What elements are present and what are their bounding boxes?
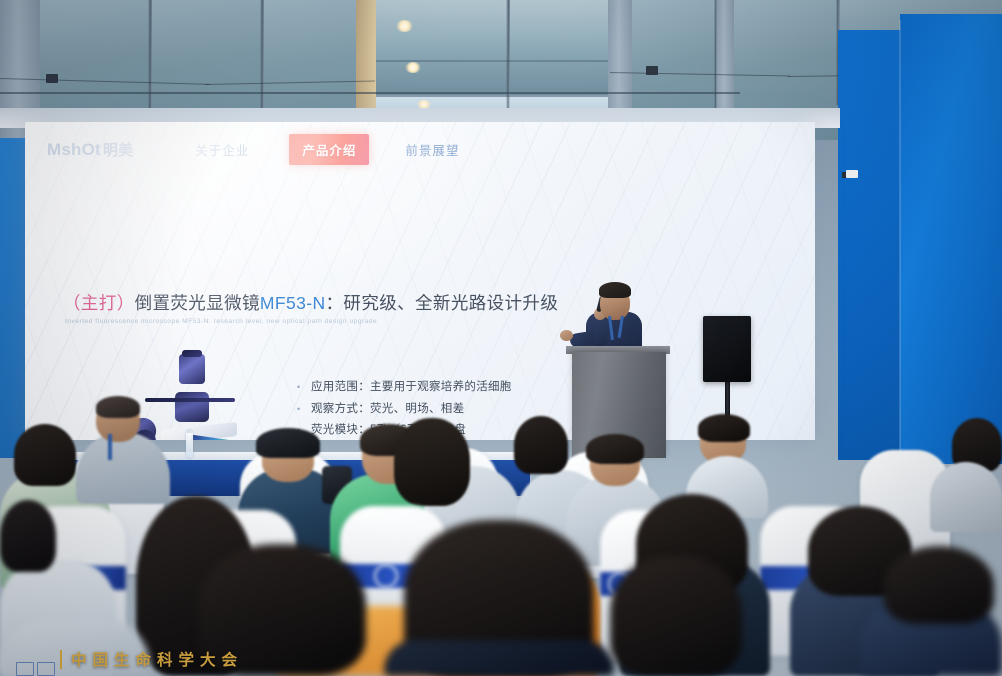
screenshot-root: MshOt明美 关于企业 产品介绍 前景展望 （主打）倒置荧光显微镜MF53-N… — [0, 0, 1002, 676]
bullet-text: 观察方式：荧光、明场、相差 — [311, 402, 464, 416]
slide-subtitle-english: Inverted fluorescence microscope MF53-N:… — [65, 318, 377, 325]
scope-stage-arm — [145, 398, 235, 402]
scope-upper-body — [175, 392, 209, 422]
audience-person-hair — [96, 396, 140, 418]
mshot-logo: MshOt明美 — [47, 139, 133, 160]
wire-anchor — [646, 66, 658, 75]
wire-anchor — [46, 74, 58, 83]
logo-block — [37, 662, 55, 676]
pa-speaker — [703, 316, 751, 382]
bullet-marker: • — [297, 380, 311, 394]
security-camera-icon — [846, 170, 858, 178]
watermark-divider — [60, 650, 62, 669]
bullet-marker: • — [297, 402, 311, 416]
slide-nav-bar: MshOt明美 关于企业 产品介绍 前景展望 — [47, 134, 797, 164]
brand-cn: 明美 — [103, 142, 133, 159]
water-bottle-cap — [186, 429, 193, 433]
title-rest: ：研究级、全新光路设计升级 — [326, 293, 559, 313]
audience-person-hair — [14, 424, 76, 486]
audience-person-hair — [514, 416, 568, 474]
ceiling-light — [405, 62, 421, 73]
audience-person-hair — [610, 556, 742, 676]
slide-tab-outlook[interactable]: 前景展望 — [395, 136, 469, 163]
glass-panel-bay — [510, 0, 608, 95]
presenter-hand-right — [560, 330, 573, 341]
audience-person-hair — [698, 414, 750, 442]
audience-cap — [256, 428, 320, 458]
audience-person-hair — [0, 500, 56, 572]
audience-lanyard — [108, 434, 112, 460]
water-bottle — [186, 432, 193, 458]
presenter-hair — [599, 282, 631, 298]
audience-person-body — [930, 462, 1002, 532]
logo-block — [16, 662, 34, 676]
glass-panel-bay — [376, 0, 508, 95]
slide-tab-about[interactable]: 关于企业 — [185, 136, 259, 163]
audience-person-hair — [884, 546, 994, 624]
title-main: 倒置荧光显微镜 — [135, 293, 260, 313]
title-tag: （主打） — [63, 293, 135, 313]
audience-person-hair — [394, 418, 470, 506]
bullet-text: 应用范围：主要用于观察培养的活细胞 — [311, 380, 512, 394]
event-watermark: 中国生命科学大会 — [60, 648, 243, 670]
audience-person-body — [384, 640, 614, 676]
booth-wall-corner — [899, 20, 901, 460]
title-model: MF53-N — [260, 293, 326, 313]
scope-eyepiece-cap — [182, 350, 202, 357]
slide-tab-product[interactable]: 产品介绍 — [289, 134, 369, 165]
watermark-text: 中国生命科学大会 — [71, 648, 243, 670]
slide-title: （主打）倒置荧光显微镜MF53-N：研究级、全新光路设计升级 — [63, 290, 558, 315]
brand-latin: MshOt — [47, 140, 101, 159]
chair-sash-ring — [374, 564, 398, 588]
audience-person-hair — [586, 434, 644, 464]
booth-wall-right — [900, 14, 1002, 464]
ceiling-light — [396, 20, 413, 32]
mullion-horizontal — [0, 92, 740, 94]
scope-eyepiece-tube — [179, 354, 205, 384]
